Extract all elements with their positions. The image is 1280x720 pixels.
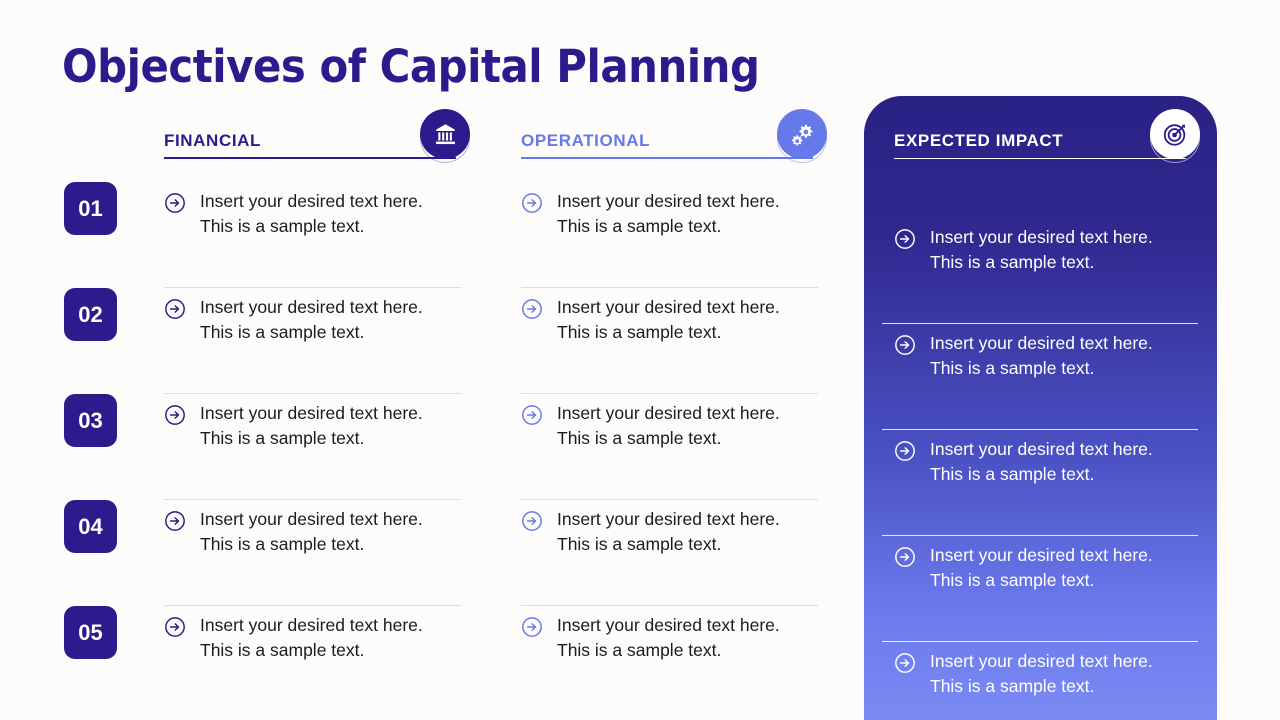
number-badge-list: 01 02 03 04 05 bbox=[64, 182, 117, 712]
list-item-text: Insert your desired text here. This is a… bbox=[557, 507, 807, 557]
number-badge: 03 bbox=[64, 394, 117, 447]
list-item-text: Insert your desired text here. This is a… bbox=[200, 613, 450, 663]
arrow-circle-right-icon bbox=[894, 652, 916, 674]
list-item-text: Insert your desired text here. This is a… bbox=[930, 225, 1180, 275]
list-item-text: Insert your desired text here. This is a… bbox=[930, 543, 1180, 593]
column-financial: FINANCIAL I bbox=[164, 122, 456, 159]
arrow-circle-right-icon bbox=[164, 192, 186, 214]
list-item: Insert your desired text here. This is a… bbox=[521, 182, 813, 288]
list-item-text: Insert your desired text here. This is a… bbox=[930, 649, 1180, 699]
list-item-text: Insert your desired text here. This is a… bbox=[200, 401, 450, 451]
arrow-circle-right-icon bbox=[894, 546, 916, 568]
list-item-text: Insert your desired text here. This is a… bbox=[200, 189, 450, 239]
list-item: Insert your desired text here. This is a… bbox=[164, 606, 456, 712]
column-operational: OPERATIONAL Inse bbox=[521, 122, 813, 159]
arrow-circle-right-icon bbox=[521, 510, 543, 532]
list-item-text: Insert your desired text here. This is a… bbox=[930, 437, 1180, 487]
list-item: Insert your desired text here. This is a… bbox=[882, 218, 1198, 324]
number-badge: 02 bbox=[64, 288, 117, 341]
list-item-text: Insert your desired text here. This is a… bbox=[200, 295, 450, 345]
list-item: Insert your desired text here. This is a… bbox=[521, 288, 813, 394]
list-item-text: Insert your desired text here. This is a… bbox=[557, 295, 807, 345]
list-item: Insert your desired text here. This is a… bbox=[164, 394, 456, 500]
number-badge: 01 bbox=[64, 182, 117, 235]
column-header-operational: OPERATIONAL bbox=[521, 122, 813, 159]
financial-row-list: Insert your desired text here. This is a… bbox=[164, 182, 456, 712]
column-header-label: FINANCIAL bbox=[164, 131, 261, 151]
number-badge: 05 bbox=[64, 606, 117, 659]
arrow-circle-right-icon bbox=[164, 510, 186, 532]
target-icon bbox=[1150, 109, 1200, 159]
list-item: Insert your desired text here. This is a… bbox=[882, 324, 1198, 430]
expected-impact-panel: EXPECTED IMPACT Insert your bbox=[864, 96, 1217, 720]
list-item-text: Insert your desired text here. This is a… bbox=[200, 507, 450, 557]
arrow-circle-right-icon bbox=[894, 228, 916, 250]
arrow-circle-right-icon bbox=[521, 298, 543, 320]
operational-row-list: Insert your desired text here. This is a… bbox=[521, 182, 813, 712]
bank-icon bbox=[420, 109, 470, 159]
arrow-circle-right-icon bbox=[894, 334, 916, 356]
list-item: Insert your desired text here. This is a… bbox=[882, 430, 1198, 536]
column-header-label: OPERATIONAL bbox=[521, 131, 650, 151]
list-item: Insert your desired text here. This is a… bbox=[521, 500, 813, 606]
gears-icon bbox=[777, 109, 827, 159]
list-item: Insert your desired text here. This is a… bbox=[882, 642, 1198, 720]
arrow-circle-right-icon bbox=[164, 298, 186, 320]
header-underline bbox=[164, 157, 456, 159]
arrow-circle-right-icon bbox=[164, 404, 186, 426]
list-item: Insert your desired text here. This is a… bbox=[164, 182, 456, 288]
column-header-expected-impact: EXPECTED IMPACT bbox=[894, 122, 1187, 159]
page-title: Objectives of Capital Planning bbox=[62, 40, 760, 93]
number-badge: 04 bbox=[64, 500, 117, 553]
list-item-text: Insert your desired text here. This is a… bbox=[930, 331, 1180, 381]
list-item: Insert your desired text here. This is a… bbox=[164, 500, 456, 606]
header-underline bbox=[894, 158, 1186, 160]
list-item-text: Insert your desired text here. This is a… bbox=[557, 189, 807, 239]
arrow-circle-right-icon bbox=[521, 192, 543, 214]
arrow-circle-right-icon bbox=[521, 616, 543, 638]
arrow-circle-right-icon bbox=[164, 616, 186, 638]
arrow-circle-right-icon bbox=[894, 440, 916, 462]
arrow-circle-right-icon bbox=[521, 404, 543, 426]
list-item-text: Insert your desired text here. This is a… bbox=[557, 613, 807, 663]
list-item: Insert your desired text here. This is a… bbox=[164, 288, 456, 394]
list-item: Insert your desired text here. This is a… bbox=[521, 394, 813, 500]
header-underline bbox=[521, 157, 813, 159]
column-header-financial: FINANCIAL bbox=[164, 122, 456, 159]
list-item: Insert your desired text here. This is a… bbox=[521, 606, 813, 712]
list-item: Insert your desired text here. This is a… bbox=[882, 536, 1198, 642]
column-header-label: EXPECTED IMPACT bbox=[894, 131, 1063, 151]
list-item-text: Insert your desired text here. This is a… bbox=[557, 401, 807, 451]
expected-impact-row-list: Insert your desired text here. This is a… bbox=[882, 218, 1198, 720]
